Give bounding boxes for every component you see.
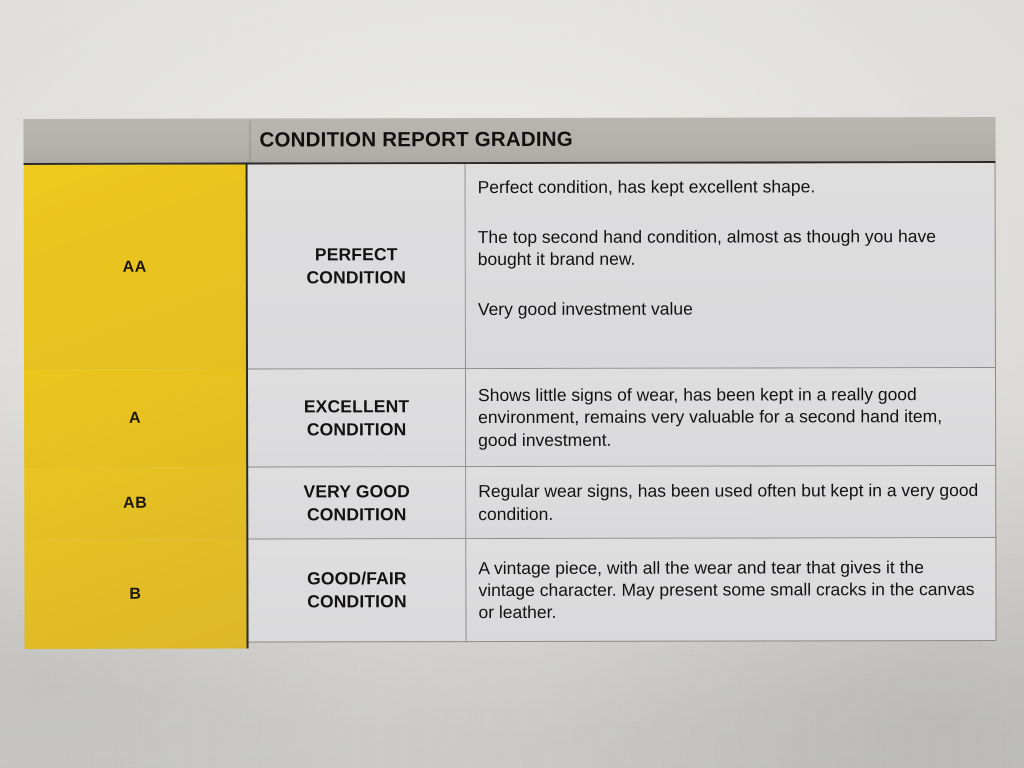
condition-report-grading-table: CONDITION REPORT GRADING AA PERFECT COND… [23,117,996,643]
table-title: CONDITION REPORT GRADING [259,128,573,153]
description-paragraph: Very good investment value [478,297,983,320]
table-body: AA PERFECT CONDITION Perfect condition, … [24,163,997,643]
description-paragraph: A vintage piece, with all the wear and t… [478,556,983,623]
condition-label-line2: CONDITION [307,418,407,441]
table-row: AB VERY GOOD CONDITION Regular wear sign… [24,466,996,540]
description-paragraph: Regular wear signs, has been used often … [478,479,983,524]
description-cell-a: Shows little signs of wear, has been kep… [466,368,996,467]
condition-label-line1: VERY GOOD [304,480,410,503]
table-row: A EXCELLENT CONDITION Shows little signs… [24,368,996,468]
description-paragraph: Perfect condition, has kept excellent sh… [478,175,983,198]
condition-label-line2: CONDITION [307,503,407,526]
condition-cell-aa: PERFECT CONDITION [248,164,466,369]
grade-label: AA [123,258,147,276]
condition-label-line1: GOOD/FAIR [307,567,407,590]
grade-label: B [129,585,141,603]
condition-label-line2: CONDITION [307,590,407,613]
condition-label-line2: CONDITION [306,266,406,289]
description-paragraph: The top second hand condition, almost as… [478,225,983,270]
table-row: AA PERFECT CONDITION Perfect condition, … [24,163,996,370]
table-row: B GOOD/FAIR CONDITION A vintage piece, w… [24,538,996,643]
grade-cell-ab: AB [24,468,248,540]
condition-cell-b: GOOD/FAIR CONDITION [248,539,466,642]
header-column-divider [249,121,250,163]
table-header-band: CONDITION REPORT GRADING [23,117,995,165]
condition-cell-a: EXCELLENT CONDITION [248,369,466,467]
description-cell-ab: Regular wear signs, has been used often … [466,466,996,539]
description-cell-aa: Perfect condition, has kept excellent sh… [466,163,996,369]
condition-label-line1: PERFECT [315,243,398,266]
condition-label-line1: EXCELLENT [304,395,409,418]
grade-cell-aa: AA [24,165,248,370]
grade-cell-a: A [24,370,248,468]
grade-cell-b: B [24,540,248,649]
grade-label: AB [123,495,147,513]
description-paragraph: Shows little signs of wear, has been kep… [478,383,983,450]
condition-cell-ab: VERY GOOD CONDITION [248,467,466,539]
grade-label: A [129,410,141,428]
description-cell-b: A vintage piece, with all the wear and t… [466,538,996,642]
